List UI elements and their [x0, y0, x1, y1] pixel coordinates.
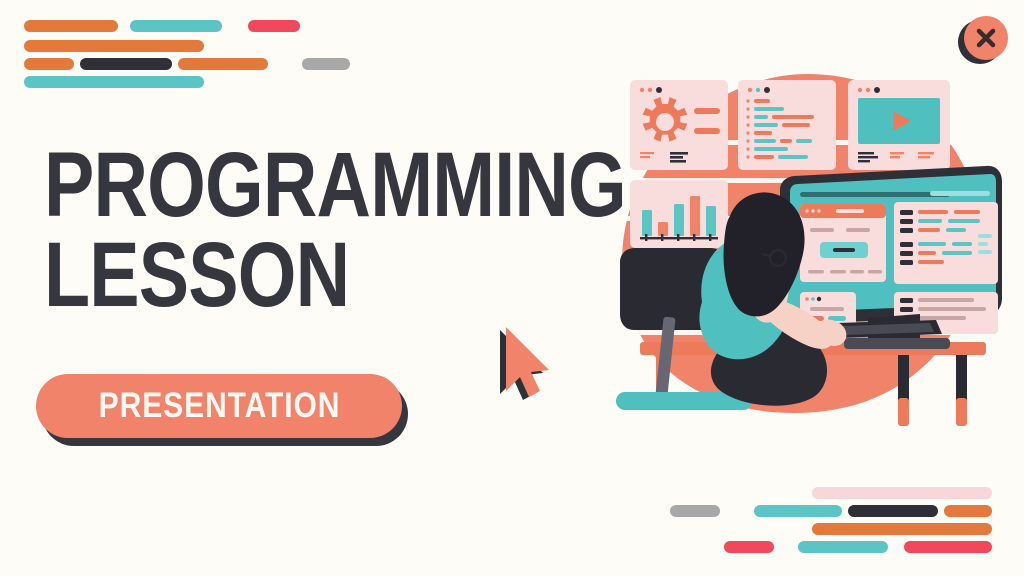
- decor-bar: [798, 541, 888, 553]
- decor-bar: [812, 523, 992, 535]
- decor-bar: [724, 541, 774, 553]
- decor-bar: [944, 505, 992, 517]
- decor-bar: [812, 487, 992, 499]
- decor-bar: [904, 541, 992, 553]
- decor-bar: [848, 505, 938, 517]
- bottom-right-code-bars: [0, 0, 1024, 576]
- decor-bar: [670, 505, 720, 517]
- presentation-slide: PROGRAMMING LESSON PRESENTATION: [0, 0, 1024, 576]
- decor-bar: [754, 505, 842, 517]
